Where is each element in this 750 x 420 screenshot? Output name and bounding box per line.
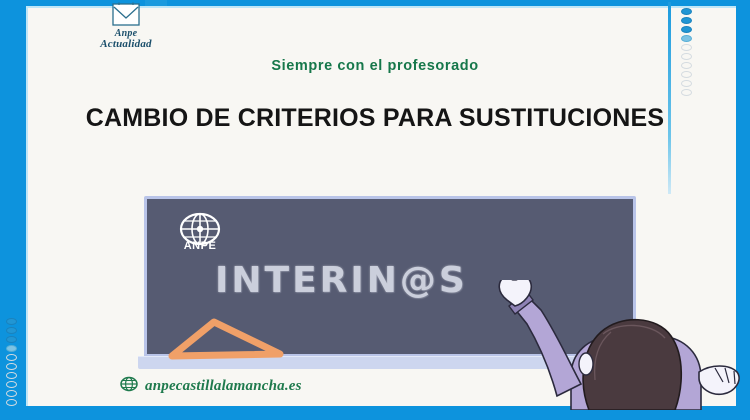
brand-logo: Anpe Actualidad bbox=[72, 2, 180, 49]
dot bbox=[681, 44, 692, 51]
dot bbox=[681, 26, 692, 33]
triangle-ruler-icon bbox=[168, 316, 288, 360]
globe-icon bbox=[120, 376, 138, 397]
dot bbox=[6, 372, 17, 379]
dot bbox=[6, 336, 17, 343]
dot bbox=[6, 354, 17, 361]
dot-column-left bbox=[6, 318, 17, 406]
dot bbox=[681, 80, 692, 87]
website-url[interactable]: anpecastillalamancha.es bbox=[145, 378, 302, 395]
tagline: Siempre con el profesorado bbox=[0, 58, 750, 74]
dot bbox=[681, 35, 692, 42]
brand-name: Anpe Actualidad bbox=[100, 29, 152, 49]
dot bbox=[6, 390, 17, 397]
dot bbox=[6, 327, 17, 334]
dot bbox=[6, 363, 17, 370]
chalkboard-scene: ANPE INTERIN@S bbox=[120, 188, 680, 388]
dot bbox=[6, 318, 17, 325]
page-title: CAMBIO DE CRITERIOS PARA SUSTITUCIONES bbox=[0, 104, 750, 133]
dot bbox=[6, 345, 17, 352]
dot bbox=[681, 89, 692, 96]
dot bbox=[681, 8, 692, 15]
dot bbox=[6, 381, 17, 388]
anpe-logo-wordmark: ANPE bbox=[172, 240, 228, 252]
envelope-check-icon bbox=[109, 2, 143, 28]
poster-canvas: Anpe Actualidad Siempre con el profesora… bbox=[0, 0, 750, 420]
brand-name-line2: Actualidad bbox=[100, 39, 152, 49]
dot bbox=[681, 17, 692, 24]
dot bbox=[6, 399, 17, 406]
accent-divider-vertical bbox=[668, 2, 671, 194]
website-line[interactable]: anpecastillalamancha.es bbox=[120, 376, 540, 397]
dot-column-right bbox=[681, 8, 692, 96]
